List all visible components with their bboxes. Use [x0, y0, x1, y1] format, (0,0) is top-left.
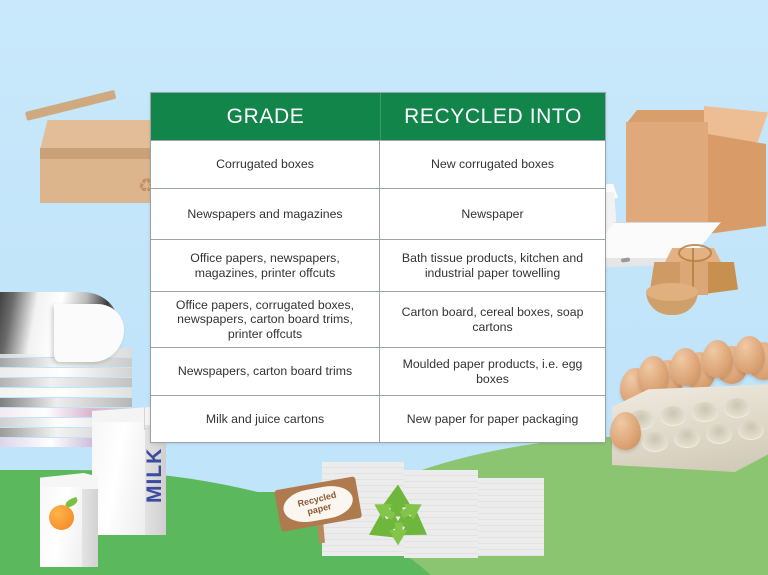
cell-grade: Office papers, newspapers, magazines, pr…: [151, 240, 380, 291]
egg-cup: [738, 420, 764, 439]
parcel-right-face: [704, 262, 738, 294]
cell-recycled-into: New corrugated boxes: [380, 141, 605, 188]
orange-fruit-icon: [49, 505, 74, 530]
cell-recycled-into: Bath tissue products, kitchen and indust…: [380, 240, 605, 291]
box-side-left: [626, 122, 708, 232]
cell-grade: Newspapers, carton board trims: [151, 348, 380, 395]
egg-tray: [608, 340, 768, 480]
newspaper-curl: [54, 304, 124, 362]
egg-cup: [706, 424, 732, 443]
box-lid: [40, 120, 166, 150]
box-side-right: [708, 134, 766, 234]
egg-cup: [674, 428, 700, 447]
newspaper-sheet: [0, 398, 132, 407]
egg: [670, 348, 701, 386]
table-header-row: GRADE RECYCLED INTO: [151, 93, 605, 140]
paper-sheet: [478, 478, 544, 556]
cell-grade: Corrugated boxes: [151, 141, 380, 188]
table-row: Office papers, corrugated boxes, newspap…: [151, 291, 605, 347]
poster-canvas: ♻: [0, 0, 768, 575]
egg: [638, 356, 669, 394]
egg-loose: [610, 412, 641, 450]
newspaper-sheet: [0, 388, 132, 397]
column-header-grade: GRADE: [151, 93, 381, 140]
juice-carton: [40, 473, 98, 567]
table-row: Office papers, newspapers, magazines, pr…: [151, 239, 605, 291]
table-row: Newspapers and magazines Newspaper: [151, 188, 605, 239]
parcel-bow: [678, 244, 712, 262]
cell-grade: Milk and juice cartons: [151, 396, 380, 443]
cell-recycled-into: Newspaper: [380, 189, 605, 239]
juice-carton-side: [82, 489, 98, 567]
milk-label-text: MILK: [142, 433, 168, 517]
cell-recycled-into: Moulded paper products, i.e. egg boxes: [380, 348, 605, 395]
egg-cup: [660, 406, 686, 425]
round-kraft-box: [646, 283, 698, 317]
table-row: Newspapers, carton board trims Moulded p…: [151, 347, 605, 395]
cell-recycled-into: New paper for paper packaging: [380, 396, 605, 443]
cell-grade: Office papers, corrugated boxes, newspap…: [151, 292, 380, 347]
egg-cup: [724, 398, 750, 417]
egg: [734, 336, 765, 374]
table-row: Milk and juice cartons New paper for pap…: [151, 395, 605, 443]
column-header-recycled-into: RECYCLED INTO: [381, 93, 605, 140]
milk-carton-front: [92, 422, 145, 535]
grade-recycled-table: GRADE RECYCLED INTO Corrugated boxes New…: [150, 92, 606, 443]
table-row: Corrugated boxes New corrugated boxes: [151, 140, 605, 188]
egg-cup: [692, 402, 718, 421]
cell-grade: Newspapers and magazines: [151, 189, 380, 239]
cell-recycled-into: Carton board, cereal boxes, soap cartons: [380, 292, 605, 347]
newspaper-sheet: [0, 378, 132, 387]
egg-cup: [642, 432, 668, 451]
round-box-lid: [646, 283, 698, 301]
cardboard-box-left: ♻: [18, 104, 170, 200]
egg: [702, 340, 733, 378]
newspaper-sheet: [0, 368, 132, 377]
recycle-symbol-icon: [360, 483, 436, 553]
